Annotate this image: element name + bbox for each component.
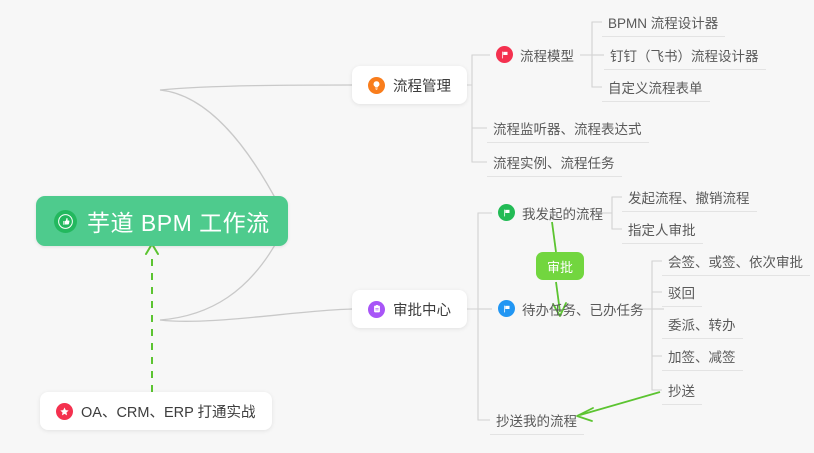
cc-arrow-line bbox=[580, 392, 660, 415]
approve-badge-label: 审批 bbox=[547, 257, 573, 276]
node-process-model-label: 流程模型 bbox=[520, 45, 574, 65]
flag-icon bbox=[496, 46, 513, 63]
star-icon bbox=[56, 403, 73, 420]
leaf-launch-cancel-process-label: 发起流程、撤销流程 bbox=[628, 187, 750, 207]
wire-pm-to-instance bbox=[472, 128, 487, 162]
leaf-process-instance[interactable]: 流程实例、流程任务 bbox=[487, 147, 622, 177]
leaf-add-remove-sign-label: 加签、减签 bbox=[668, 346, 736, 366]
wire-model-to-bpmn bbox=[580, 22, 602, 55]
flag-icon bbox=[498, 204, 515, 221]
leaf-cc-to-me-process[interactable]: 抄送我的流程 bbox=[490, 405, 584, 435]
branch-process-management[interactable]: 流程管理 bbox=[352, 66, 467, 104]
approve-badge[interactable]: 审批 bbox=[536, 252, 584, 280]
wire-todo-to-cc bbox=[652, 309, 662, 390]
wire-ac-to-cc bbox=[478, 309, 490, 420]
wire-model-to-form bbox=[592, 55, 602, 87]
leaf-add-remove-sign[interactable]: 加签、减签 bbox=[662, 341, 743, 371]
leaf-cc-to-me-process-label: 抄送我的流程 bbox=[496, 410, 577, 430]
node-process-model[interactable]: 流程模型 bbox=[490, 40, 581, 70]
wire-todo-to-addsign bbox=[652, 309, 662, 356]
branch-process-management-label: 流程管理 bbox=[393, 75, 451, 96]
leaf-dingtalk-designer[interactable]: 钉钉（飞书）流程设计器 bbox=[604, 40, 766, 70]
curve-root-to-approval-center bbox=[160, 236, 352, 321]
leaf-custom-form-label: 自定义流程表单 bbox=[608, 77, 703, 97]
leaf-assignee-approval-label: 指定人审批 bbox=[628, 219, 696, 239]
root-node[interactable]: 芋道 BPM 工作流 bbox=[36, 196, 288, 246]
footnote-label: OA、CRM、ERP 打通实战 bbox=[81, 401, 256, 422]
leaf-reject[interactable]: 驳回 bbox=[662, 277, 702, 307]
leaf-delegate-transfer-label: 委派、转办 bbox=[668, 314, 736, 334]
branch-approval-center-label: 审批中心 bbox=[393, 299, 451, 320]
leaf-countersign[interactable]: 会签、或签、依次审批 bbox=[662, 246, 810, 276]
leaf-assignee-approval[interactable]: 指定人审批 bbox=[622, 214, 703, 244]
leaf-bpmn-designer[interactable]: BPMN 流程设计器 bbox=[602, 7, 725, 37]
thumbs-up-icon bbox=[54, 210, 77, 233]
leaf-launch-cancel-process[interactable]: 发起流程、撤销流程 bbox=[622, 182, 757, 212]
leaf-reject-label: 驳回 bbox=[668, 282, 695, 302]
node-todo-done-tasks[interactable]: 待办任务、已办任务 bbox=[492, 294, 651, 324]
leaf-delegate-transfer[interactable]: 委派、转办 bbox=[662, 309, 743, 339]
mindmap-canvas: 芋道 BPM 工作流 OA、CRM、ERP 打通实战 流程管理 bbox=[0, 0, 814, 453]
curve-root-to-process-management bbox=[160, 85, 352, 207]
wire-todo-to-reject bbox=[652, 292, 662, 309]
leaf-cc-label: 抄送 bbox=[668, 380, 695, 400]
wire-pm-to-listener bbox=[472, 85, 487, 128]
leaf-process-listener-label: 流程监听器、流程表达式 bbox=[493, 118, 642, 138]
wire-started-to-assignee bbox=[612, 213, 622, 229]
branch-approval-center[interactable]: 审批中心 bbox=[352, 290, 467, 328]
node-my-started-process-label: 我发起的流程 bbox=[522, 203, 603, 223]
leaf-dingtalk-designer-label: 钉钉（飞书）流程设计器 bbox=[610, 45, 759, 65]
node-my-started-process[interactable]: 我发起的流程 bbox=[492, 198, 610, 228]
leaf-bpmn-designer-label: BPMN 流程设计器 bbox=[608, 12, 718, 32]
footnote-node[interactable]: OA、CRM、ERP 打通实战 bbox=[40, 392, 272, 430]
leaf-custom-form[interactable]: 自定义流程表单 bbox=[602, 72, 710, 102]
leaf-process-listener[interactable]: 流程监听器、流程表达式 bbox=[487, 113, 649, 143]
lightbulb-icon bbox=[368, 77, 385, 94]
root-node-label: 芋道 BPM 工作流 bbox=[87, 204, 270, 238]
flag-icon bbox=[498, 300, 515, 317]
node-todo-done-tasks-label: 待办任务、已办任务 bbox=[522, 299, 644, 319]
leaf-cc[interactable]: 抄送 bbox=[662, 375, 702, 405]
leaf-countersign-label: 会签、或签、依次审批 bbox=[668, 251, 803, 271]
leaf-process-instance-label: 流程实例、流程任务 bbox=[493, 152, 615, 172]
document-icon bbox=[368, 301, 385, 318]
